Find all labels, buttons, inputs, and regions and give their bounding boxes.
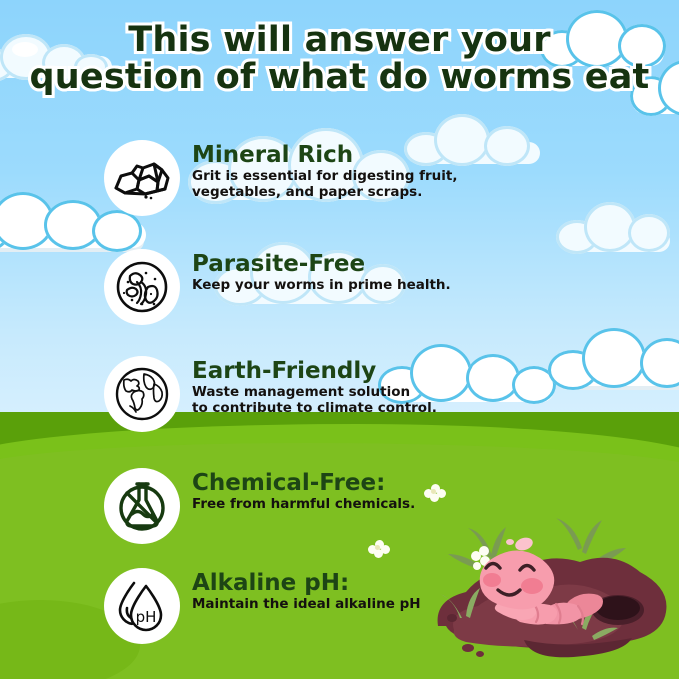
bacteria-icon [115,260,169,314]
worm-head [480,536,555,610]
badge-circle [104,140,180,216]
globe-icon [114,366,170,422]
feature-title: Earth-Friendly [192,360,437,383]
badge-circle: pH [104,568,180,644]
feature-text: Mineral Rich Grit is essential for diges… [192,140,457,200]
feature-desc-line-1: Free from harmful chemicals. [192,497,415,512]
feature-row-earth-friendly: Earth-Friendly Waste management solution… [104,356,437,432]
feature-row-parasite-free: Parasite-Free Keep your worms in prime h… [104,249,451,325]
feature-row-chemical-free: Chemical-Free: Free from harmful chemica… [104,468,415,544]
pink-worm-in-soil-illustration [428,498,679,679]
feature-row-alkaline-ph: pH Alkaline pH: Maintain the ideal alkal… [104,568,421,644]
page-title-line-2: question of what do worms eat [0,59,679,96]
feature-text: Earth-Friendly Waste management solution… [192,356,437,416]
feature-title: Chemical-Free: [192,472,415,495]
badge-circle [104,249,180,325]
page-title: This will answer your question of what d… [0,22,679,96]
page-title-line-1: This will answer your [0,22,679,59]
feature-text: Chemical-Free: Free from harmful chemica… [192,468,415,513]
feature-desc-line-1: Maintain the ideal alkaline pH [192,597,421,612]
feature-title: Alkaline pH: [192,572,421,595]
feature-title: Mineral Rich [192,144,457,167]
feature-desc-line-2: vegetables, and paper scraps. [192,185,457,200]
feature-text: Parasite-Free Keep your worms in prime h… [192,249,451,294]
feature-title: Parasite-Free [192,253,451,276]
feature-row-mineral-rich: Mineral Rich Grit is essential for diges… [104,140,457,216]
feature-desc-line-1: Keep your worms in prime health. [192,278,451,293]
cloud-right-lower [548,322,679,392]
no-flask-icon [114,478,170,534]
infographic-poster: This will answer your question of what d… [0,0,679,679]
ph-droplet-icon: pH [114,578,170,634]
feature-desc-line-1: Waste management solution [192,385,437,400]
rocks-icon [113,156,171,200]
ph-icon-label: pH [136,608,157,626]
feature-text: Alkaline pH: Maintain the ideal alkaline… [192,568,421,613]
feature-desc-line-2: to contribute to climate control. [192,401,437,416]
badge-circle [104,356,180,432]
flower-decoration [368,540,390,558]
feature-desc-line-1: Grit is essential for digesting fruit, [192,169,457,184]
badge-circle [104,468,180,544]
cloud-right-mid [556,196,679,254]
